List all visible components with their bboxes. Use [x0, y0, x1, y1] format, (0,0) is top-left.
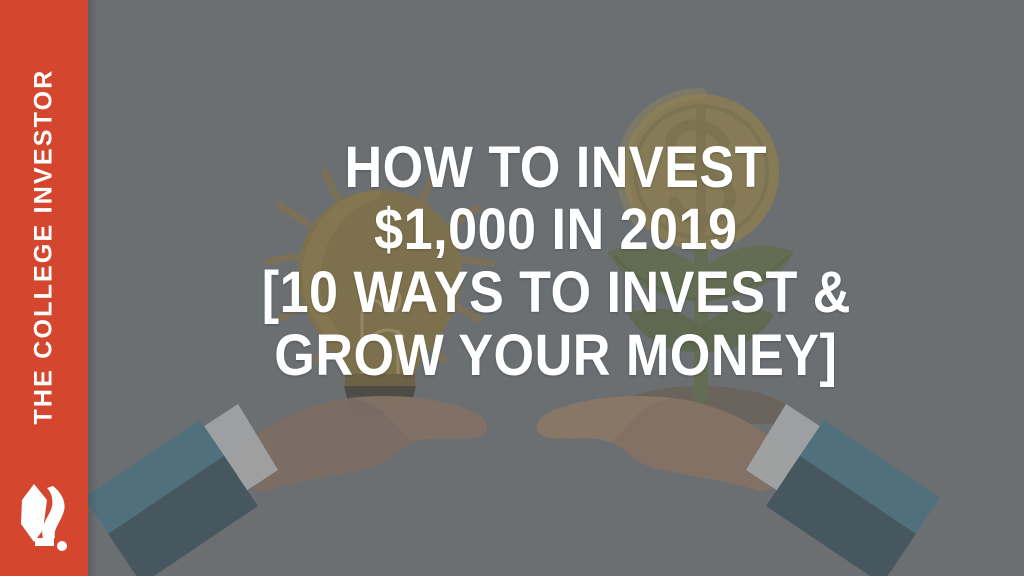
brand-rail: THE COLLEGE INVESTOR [0, 0, 88, 576]
video-thumbnail: HOW TO INVEST $1,000 IN 2019 [10 WAYS TO… [0, 0, 1024, 576]
brand-rail-shadow [88, 0, 98, 576]
pen-nib-logo-icon [13, 480, 75, 554]
brand-wordmark: THE COLLEGE INVESTOR [32, 32, 57, 462]
background-illustration [0, 0, 1024, 576]
